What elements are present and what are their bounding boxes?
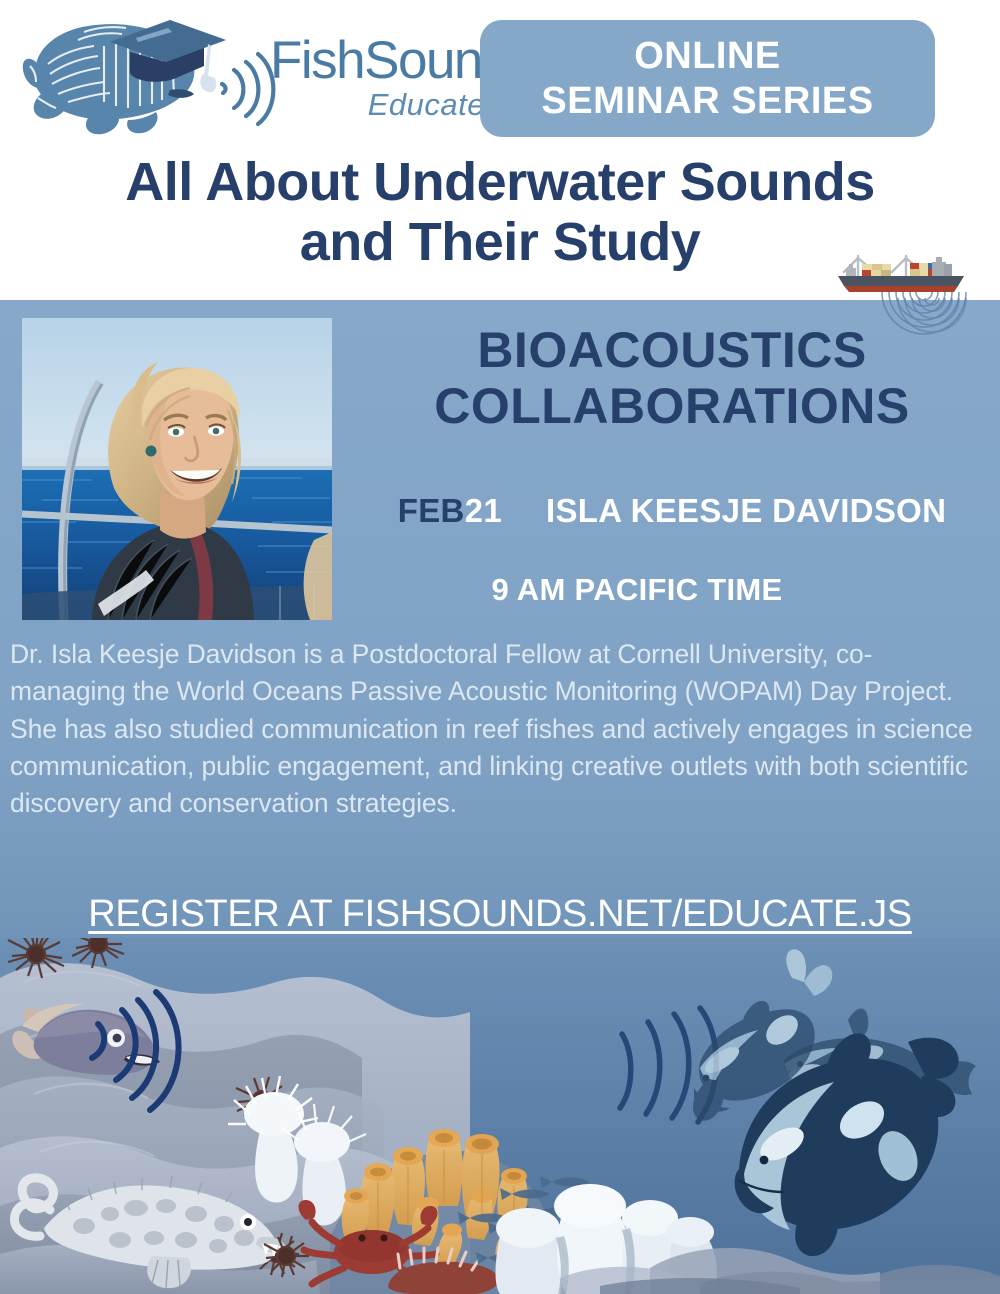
talk-headline-line-1: BIOACOUSTICS xyxy=(352,322,992,378)
talk-month: FEB xyxy=(398,492,465,529)
fishsounds-educate-logo[interactable]: FishSounds Educate xyxy=(18,6,473,142)
seminar-poster: FishSounds Educate ONLINE SEMINAR SERIES… xyxy=(0,0,1000,1294)
talk-time: 9 AM PACIFIC TIME xyxy=(352,572,922,608)
speaker-portrait-photo xyxy=(22,318,332,620)
badge-line-2: SEMINAR SERIES xyxy=(541,79,873,124)
talk-day: 21 xyxy=(465,492,502,529)
brand-wordmark: FishSounds Educate xyxy=(270,34,485,144)
talk-date-and-speaker: FEB21ISLA KEESJE DAVIDSON xyxy=(352,492,992,530)
page-title-line-1: All About Underwater Sounds xyxy=(125,152,875,212)
status-badge: ONLINE SEMINAR SERIES xyxy=(480,20,935,137)
cargo-ship-icon xyxy=(832,250,972,296)
badge-line-1: ONLINE xyxy=(634,34,781,79)
talk-headline: BIOACOUSTICS COLLABORATIONS xyxy=(352,322,992,434)
talk-headline-line-2: COLLABORATIONS xyxy=(352,378,992,434)
brand-subtitle: Educate xyxy=(270,89,485,120)
speaker-name: ISLA KEESJE DAVIDSON xyxy=(546,492,946,529)
register-link[interactable]: REGISTER AT FISHSOUNDS.NET/EDUCATE.JS xyxy=(88,893,911,935)
underwater-reef-scene-icon xyxy=(0,938,1000,1294)
brand-name: FishSounds xyxy=(270,34,485,87)
register-cta[interactable]: REGISTER AT FISHSOUNDS.NET/EDUCATE.JS xyxy=(0,893,1000,936)
toadfish-graduation-cap-icon xyxy=(18,6,228,136)
speaker-bio: Dr. Isla Keesje Davidson is a Postdoctor… xyxy=(10,636,975,823)
avatar xyxy=(22,318,332,620)
